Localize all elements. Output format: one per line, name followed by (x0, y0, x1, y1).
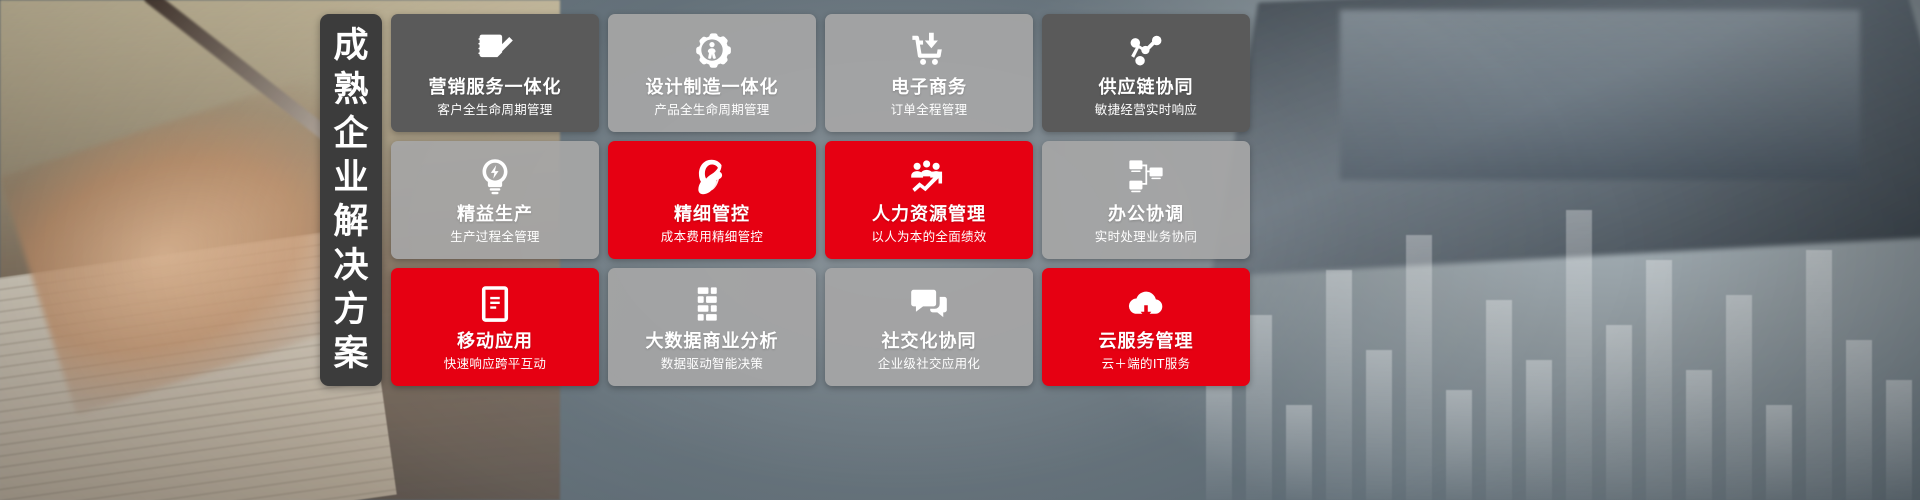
vertical-title-char: 决 (333, 244, 368, 288)
solution-card-title: 营销服务一体化 (429, 78, 562, 98)
solution-card-subtitle: 快速响应跨平互动 (444, 357, 546, 371)
vertical-title-char: 业 (333, 156, 368, 200)
lightbulb-bolt-icon (474, 156, 516, 198)
solution-card-subtitle: 云＋端的IT服务 (1102, 357, 1191, 371)
solution-card-title: 精益生产 (457, 205, 533, 225)
shopping-cart-download-icon (908, 29, 950, 71)
solution-card-title: 云服务管理 (1099, 332, 1194, 352)
solution-card[interactable]: 云服务管理云＋端的IT服务 (1042, 268, 1250, 386)
notebook-pen-icon (474, 29, 516, 71)
solution-card-title: 社交化协同 (882, 332, 977, 352)
solution-card-title: 电子商务 (891, 78, 967, 98)
solution-card-title: 移动应用 (457, 332, 533, 352)
cloud-upload-icon (1125, 283, 1167, 325)
solution-card-subtitle: 以人为本的全面绩效 (871, 230, 986, 244)
solution-card[interactable]: 精益生产生产过程全管理 (391, 141, 599, 259)
networked-computers-icon (1125, 156, 1167, 198)
solution-card-subtitle: 成本费用精细管控 (661, 230, 763, 244)
solution-card-subtitle: 敏捷经营实时响应 (1095, 103, 1197, 117)
solution-card-grid: 营销服务一体化客户全生命周期管理设计制造一体化产品全生命周期管理电子商务订单全程… (391, 14, 1250, 386)
solution-card-subtitle: 实时处理业务协同 (1095, 230, 1197, 244)
vertical-title-char: 解 (333, 200, 368, 244)
solution-card-subtitle: 生产过程全管理 (450, 230, 540, 244)
solution-card[interactable]: 电子商务订单全程管理 (825, 14, 1033, 132)
vertical-title-char: 方 (333, 288, 368, 332)
solution-card-subtitle: 企业级社交应用化 (878, 357, 980, 371)
node-network-icon (1125, 29, 1167, 71)
mobile-phone-icon (474, 283, 516, 325)
solution-card-subtitle: 数据驱动智能决策 (661, 357, 763, 371)
solution-card-subtitle: 订单全程管理 (891, 103, 968, 117)
solution-card-title: 供应链协同 (1099, 78, 1194, 98)
banner-stage: 成熟企业解决方案 营销服务一体化客户全生命周期管理设计制造一体化产品全生命周期管… (0, 0, 1920, 500)
people-growth-arrow-icon (908, 156, 950, 198)
solution-card[interactable]: 营销服务一体化客户全生命周期管理 (391, 14, 599, 132)
solution-card[interactable]: 设计制造一体化产品全生命周期管理 (608, 14, 816, 132)
solution-card[interactable]: 社交化协同企业级社交应用化 (825, 268, 1033, 386)
vertical-title-panel: 成熟企业解决方案 (320, 14, 382, 386)
solution-card-subtitle: 客户全生命周期管理 (437, 103, 552, 117)
solution-card-title: 人力资源管理 (872, 205, 986, 225)
gear-person-icon (691, 29, 733, 71)
vertical-title-char: 案 (333, 332, 368, 376)
server-database-icon (691, 283, 733, 325)
solution-card-title: 设计制造一体化 (646, 78, 779, 98)
solution-board: 成熟企业解决方案 营销服务一体化客户全生命周期管理设计制造一体化产品全生命周期管… (320, 14, 1250, 386)
solution-card-title: 办公协调 (1108, 205, 1184, 225)
vertical-title-char: 企 (333, 112, 368, 156)
vertical-title-char: 成 (333, 24, 368, 68)
euro-currency-icon (691, 156, 733, 198)
solution-card-title: 大数据商业分析 (646, 332, 779, 352)
solution-card[interactable]: 供应链协同敏捷经营实时响应 (1042, 14, 1250, 132)
solution-card[interactable]: 大数据商业分析数据驱动智能决策 (608, 268, 816, 386)
solution-card-subtitle: 产品全生命周期管理 (654, 103, 769, 117)
solution-card[interactable]: 人力资源管理以人为本的全面绩效 (825, 141, 1033, 259)
solution-card[interactable]: 移动应用快速响应跨平互动 (391, 268, 599, 386)
solution-card-title: 精细管控 (674, 205, 750, 225)
vertical-title-char: 熟 (333, 68, 368, 112)
solution-card[interactable]: 办公协调实时处理业务协同 (1042, 141, 1250, 259)
solution-card[interactable]: 精细管控成本费用精细管控 (608, 141, 816, 259)
chat-bubbles-icon (908, 283, 950, 325)
